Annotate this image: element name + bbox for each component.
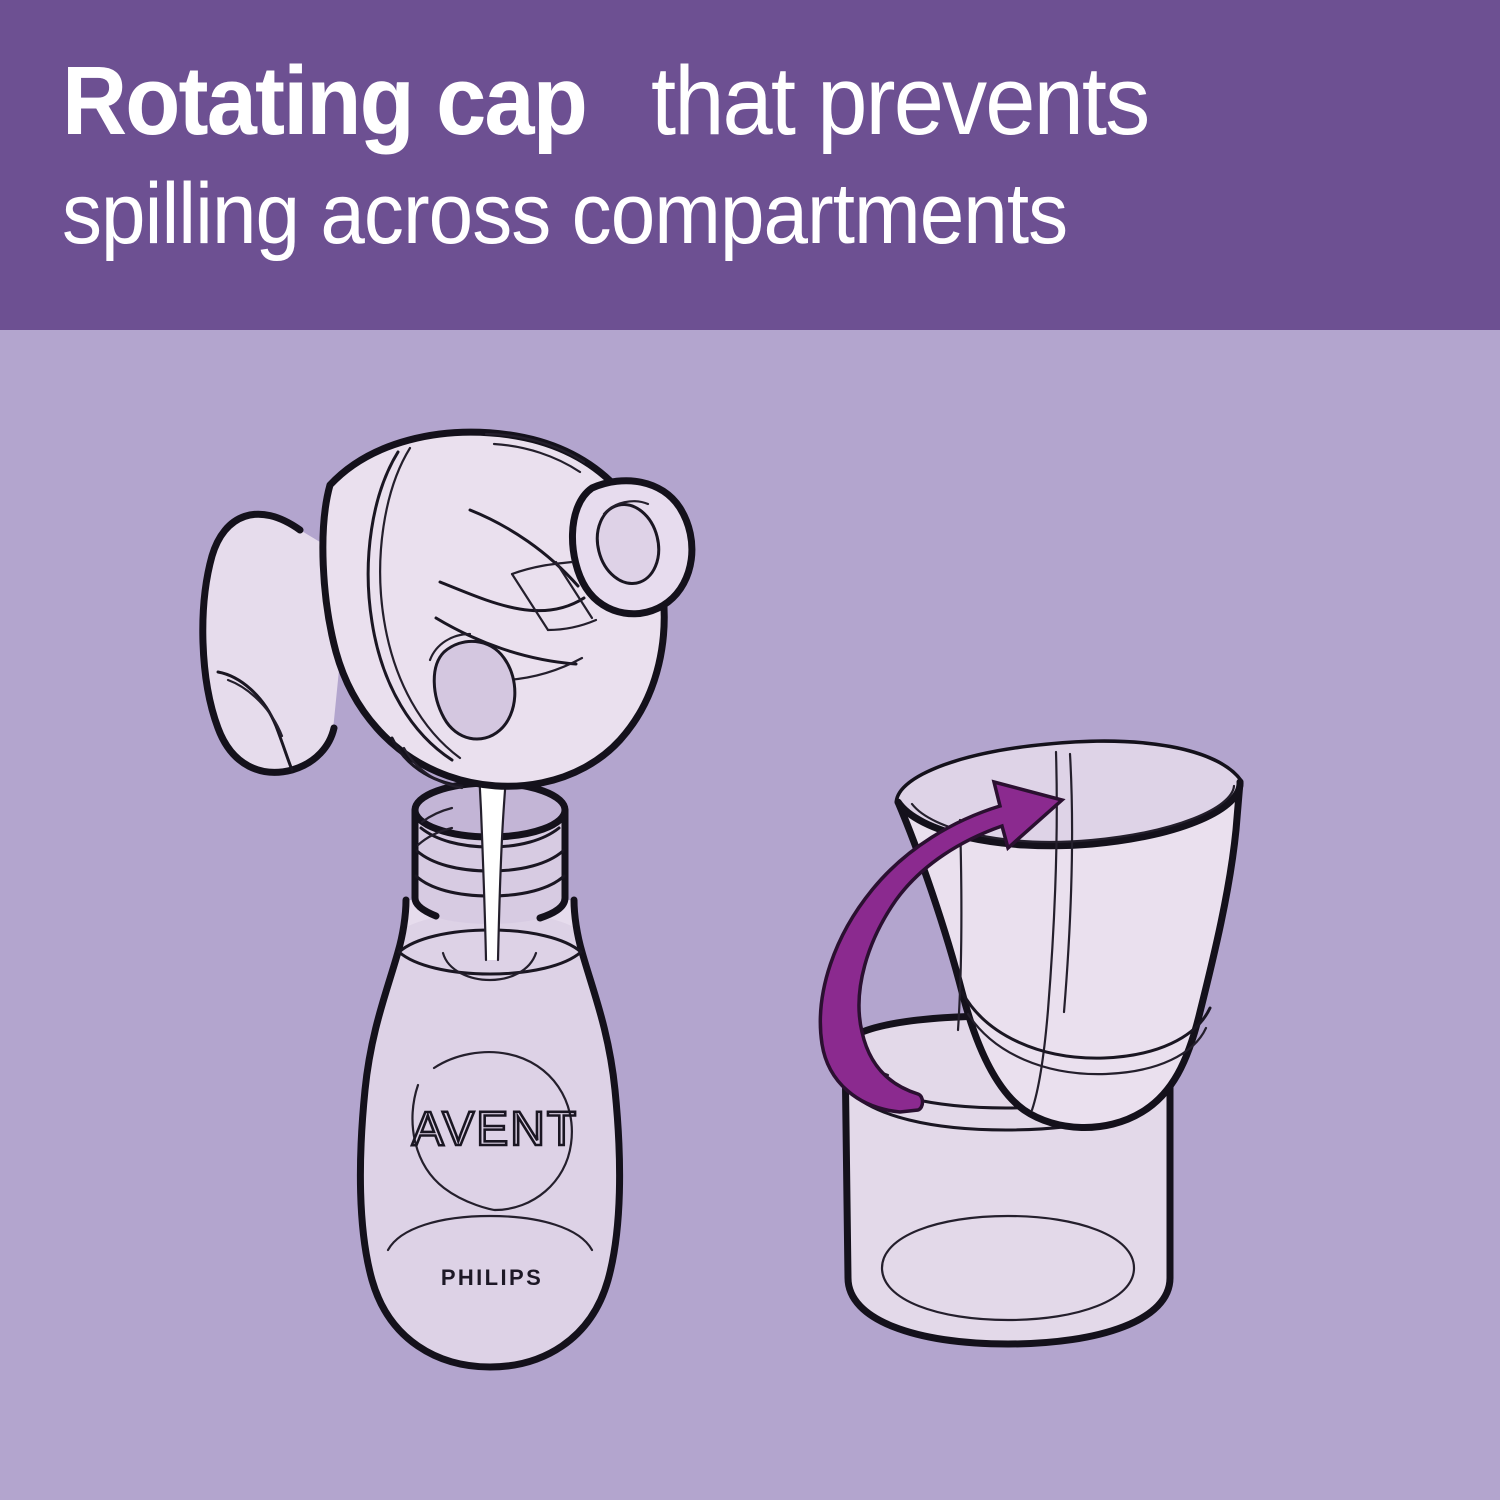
headline-line-2: spilling across compartments [62, 171, 1440, 257]
headline-light-text-2: spilling across compartments [62, 171, 1067, 257]
avent-logo-text: AVENT [412, 1103, 578, 1156]
philips-wordmark: PHILIPS [441, 1265, 543, 1290]
product-feature-card: Rotating capthat prevents spilling acros… [0, 0, 1500, 1500]
right-scene-rotating [820, 743, 1240, 1344]
avent-bottle: AVENT PHILIPS [360, 900, 619, 1367]
rotating-cap [203, 432, 692, 788]
header-banner: Rotating capthat prevents spilling acros… [0, 0, 1500, 330]
headline-bold-text: Rotating cap [62, 52, 586, 149]
headline-line-1: Rotating capthat prevents [62, 52, 1440, 149]
product-illustration: AVENT PHILIPS [0, 330, 1500, 1500]
headline-light-text-1: that prevents [651, 52, 1148, 149]
left-scene-pouring: AVENT PHILIPS [203, 432, 692, 1367]
